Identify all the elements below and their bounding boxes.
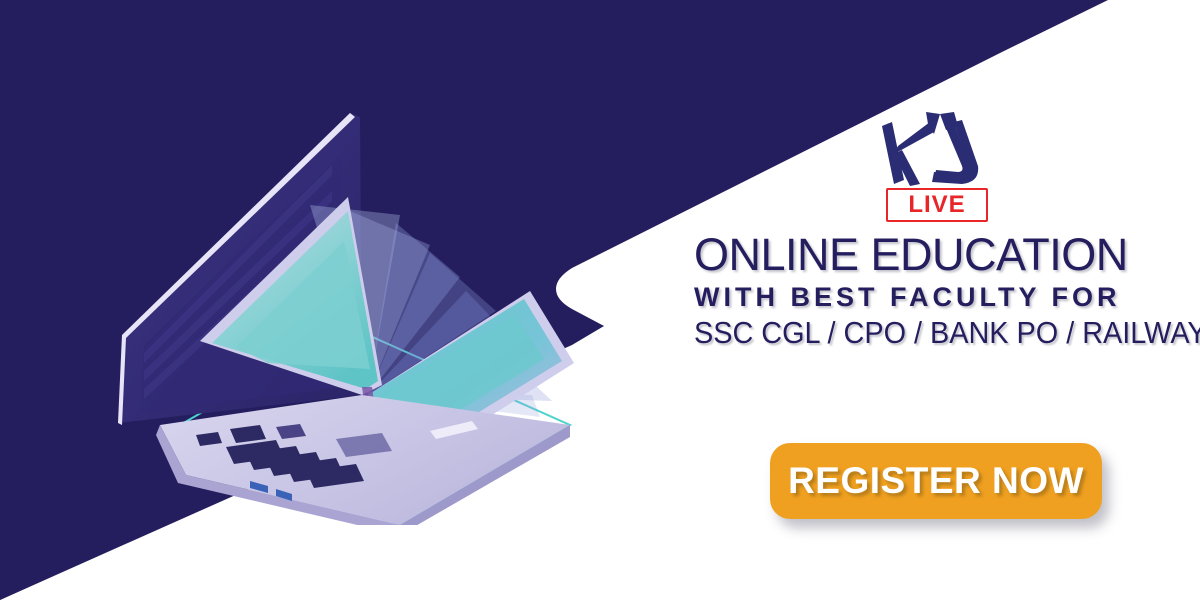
promo-banner: LIVE ONLINE EDUCATION WITH BEST FACULTY … bbox=[0, 0, 1200, 600]
brand-logo: LIVE bbox=[874, 110, 1024, 222]
laptop-base-top bbox=[160, 395, 570, 525]
headline-secondary: WITH BEST FACULTY FOR bbox=[694, 282, 1194, 313]
kd-monogram-icon bbox=[874, 110, 996, 186]
headline-courses: SSC CGL / CPO / BANK PO / RAILWAYS bbox=[694, 316, 1159, 351]
register-now-label: REGISTER NOW bbox=[788, 460, 1084, 502]
register-now-button[interactable]: REGISTER NOW bbox=[770, 443, 1102, 519]
live-badge-label: LIVE bbox=[908, 193, 965, 217]
laptop-illustration bbox=[100, 95, 580, 525]
content-column: LIVE ONLINE EDUCATION WITH BEST FACULTY … bbox=[694, 110, 1194, 351]
cta-container: REGISTER NOW bbox=[770, 443, 1102, 519]
live-badge: LIVE bbox=[886, 188, 988, 222]
headline-primary: ONLINE EDUCATION bbox=[694, 232, 1194, 279]
